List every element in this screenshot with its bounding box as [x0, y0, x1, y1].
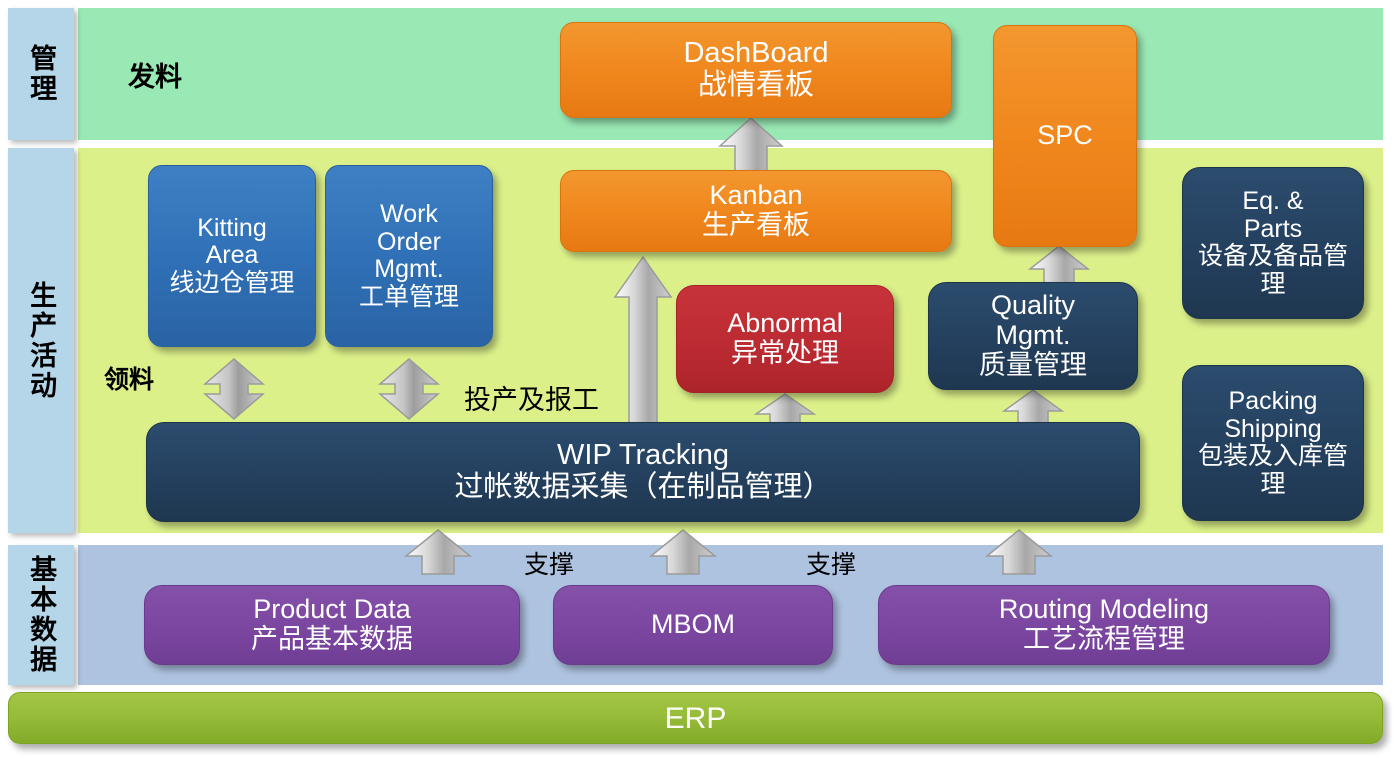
sidebar-label-management-text: 管理	[26, 44, 56, 104]
node-equipment-parts[interactable]: Eq. & Parts 设备及备品管理	[1182, 167, 1364, 319]
node-product-data[interactable]: Product Data 产品基本数据	[144, 585, 520, 665]
arrow-quality-to-spc-icon	[1028, 244, 1090, 286]
node-spc-en: SPC	[1037, 121, 1093, 151]
arrow-wip-to-quality-icon	[1002, 388, 1064, 426]
node-packing-shipping-en1: Packing	[1229, 388, 1318, 416]
node-work-order-mgmt-cn: 工单管理	[359, 284, 459, 312]
diagram-canvas: 管理 生产活动 基本数据 发料 领料 投产及报工 支撑 支撑	[0, 0, 1398, 773]
sidebar-label-basic-data: 基本数据	[8, 545, 74, 685]
node-packing-shipping-en2: Shipping	[1224, 416, 1321, 444]
node-product-data-cn: 产品基本数据	[251, 625, 413, 655]
arrow-product-data-to-wip-icon	[404, 528, 472, 576]
node-quality-mgmt-en1: Quality	[991, 291, 1075, 321]
arrow-mbom-to-wip-icon	[649, 528, 717, 576]
node-equipment-parts-cn: 设备及备品管理	[1189, 243, 1357, 298]
arrow-kanban-to-dashboard-icon	[718, 116, 784, 176]
node-abnormal-cn: 异常处理	[731, 339, 839, 369]
node-kanban-cn: 生产看板	[702, 211, 810, 241]
arrow-workorder-to-wip-icon	[378, 358, 440, 420]
node-mbom-en: MBOM	[651, 610, 735, 640]
node-kanban-en: Kanban	[709, 181, 802, 211]
node-erp-en: ERP	[665, 702, 727, 735]
node-wip-tracking[interactable]: WIP Tracking 过帐数据采集（在制品管理）	[146, 422, 1140, 522]
node-work-order-mgmt-en3: Mgmt.	[374, 256, 443, 284]
node-wip-tracking-cn: 过帐数据采集（在制品管理）	[454, 472, 831, 504]
arrow-wip-to-kanban-icon	[613, 255, 673, 425]
sidebar-label-basic-data-text: 基本数据	[26, 555, 56, 675]
node-equipment-parts-en1: Eq. &	[1242, 188, 1303, 216]
node-kanban[interactable]: Kanban 生产看板	[560, 170, 952, 252]
node-work-order-mgmt-en1: Work	[380, 201, 438, 229]
node-erp[interactable]: ERP	[8, 692, 1383, 744]
sidebar-label-production: 生产活动	[8, 148, 74, 533]
node-product-data-en: Product Data	[253, 595, 411, 625]
node-routing-modeling[interactable]: Routing Modeling 工艺流程管理	[878, 585, 1330, 665]
node-dashboard-cn: 战情看板	[698, 70, 814, 102]
node-wip-tracking-en: WIP Tracking	[557, 440, 729, 472]
flow-label-support-2: 支撑	[806, 545, 856, 581]
sidebar-label-production-text: 生产活动	[26, 281, 56, 401]
node-kitting-area-en2: Area	[206, 242, 259, 270]
node-quality-mgmt[interactable]: Quality Mgmt. 质量管理	[928, 282, 1138, 390]
arrow-routing-to-wip-icon	[985, 528, 1053, 576]
flow-label-production-report: 投产及报工	[464, 378, 599, 417]
flow-label-pick-material: 领料	[104, 360, 154, 396]
node-quality-mgmt-en2: Mgmt.	[995, 321, 1070, 351]
node-quality-mgmt-cn: 质量管理	[979, 351, 1087, 381]
node-routing-modeling-en: Routing Modeling	[999, 595, 1209, 625]
node-kitting-area-cn: 线边仓管理	[169, 270, 294, 298]
node-mbom[interactable]: MBOM	[553, 585, 833, 665]
flow-label-issue-material: 发料	[128, 55, 182, 94]
arrow-kitting-to-wip-icon	[203, 358, 265, 420]
node-spc[interactable]: SPC	[993, 25, 1137, 247]
sidebar-label-management: 管理	[8, 8, 74, 140]
node-kitting-area-en1: Kitting	[197, 215, 266, 243]
node-abnormal-en: Abnormal	[727, 309, 843, 339]
node-routing-modeling-cn: 工艺流程管理	[1023, 625, 1185, 655]
node-dashboard[interactable]: DashBoard 战情看板	[560, 22, 952, 118]
node-packing-shipping[interactable]: Packing Shipping 包装及入库管理	[1182, 365, 1364, 521]
node-work-order-mgmt[interactable]: Work Order Mgmt. 工单管理	[325, 165, 493, 347]
node-abnormal[interactable]: Abnormal 异常处理	[676, 285, 894, 393]
node-equipment-parts-en2: Parts	[1244, 216, 1302, 244]
node-dashboard-en: DashBoard	[683, 38, 828, 70]
node-kitting-area[interactable]: Kitting Area 线边仓管理	[148, 165, 316, 347]
node-packing-shipping-cn: 包装及入库管理	[1189, 443, 1357, 498]
flow-label-support-1: 支撑	[524, 545, 574, 581]
node-work-order-mgmt-en2: Order	[377, 229, 441, 257]
